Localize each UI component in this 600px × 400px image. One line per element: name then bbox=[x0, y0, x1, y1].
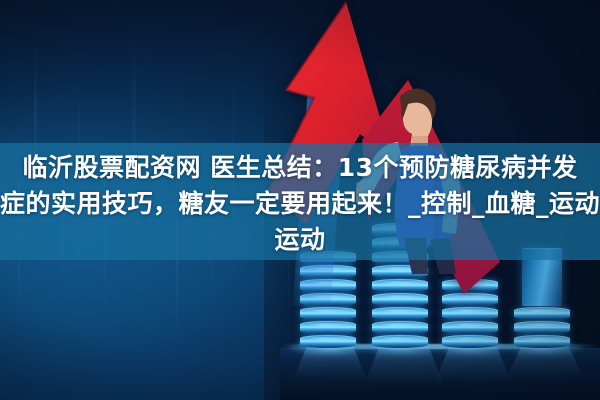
caption-line-2: 症的实用技巧，糖友一定要用起来！_控制_血糖_运动 bbox=[0, 186, 600, 222]
caption-text: 临沂股票配资网 医生总结：13个预防糖尿病并发 症的实用技巧，糖友一定要用起来！… bbox=[0, 143, 600, 260]
caption-line-1: 临沂股票配资网 医生总结：13个预防糖尿病并发 bbox=[23, 150, 578, 186]
caption-line-3: 运动 bbox=[274, 222, 325, 258]
thumbnail-image: 临沂股票配资网 医生总结：13个预防糖尿病并发 症的实用技巧，糖友一定要用起来！… bbox=[0, 0, 600, 400]
